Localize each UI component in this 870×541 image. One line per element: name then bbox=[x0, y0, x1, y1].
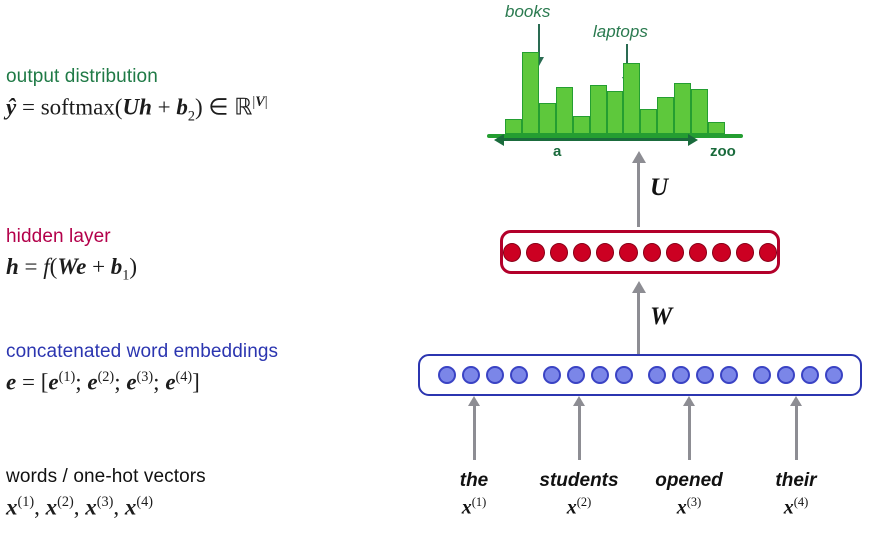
matrix-label-u: U bbox=[650, 174, 668, 202]
annotation-laptops: laptops bbox=[593, 22, 648, 42]
word-input-arrow bbox=[473, 405, 476, 460]
chart-bar bbox=[539, 103, 556, 134]
chart-bar bbox=[674, 83, 691, 134]
hidden-node bbox=[573, 243, 591, 262]
chart-bar bbox=[522, 52, 539, 134]
hidden-layer-label: hidden layer bbox=[6, 226, 137, 248]
hidden-node bbox=[550, 243, 568, 262]
embedding-node bbox=[486, 366, 504, 384]
word-symbol: x(1) bbox=[419, 495, 529, 520]
word-input-arrow bbox=[578, 405, 581, 460]
chart-bar bbox=[556, 87, 573, 134]
chart-bar bbox=[505, 119, 522, 134]
word-text: their bbox=[741, 470, 851, 492]
word-symbol: x(3) bbox=[634, 495, 744, 520]
word-input-column: studentsx(2) bbox=[524, 470, 634, 520]
vocabulary-axis-arrow bbox=[503, 138, 689, 141]
output-distribution-label: output distribution bbox=[6, 66, 268, 88]
hidden-node bbox=[596, 243, 614, 262]
embedding-node bbox=[543, 366, 561, 384]
embedding-node bbox=[438, 366, 456, 384]
word-input-column: theirx(4) bbox=[741, 470, 851, 520]
hidden-layer-nodes bbox=[500, 230, 780, 274]
embedding-group bbox=[753, 366, 843, 384]
output-distribution-formula: ŷ = softmax(Uh + b2) ∈ ℝ|V| bbox=[6, 94, 268, 125]
network-diagram: books laptops a zoo U W thex(1)studentsx… bbox=[410, 0, 870, 541]
embedding-layer-nodes bbox=[418, 354, 862, 396]
hidden-node bbox=[643, 243, 661, 262]
embedding-group bbox=[648, 366, 738, 384]
annotation-books: books bbox=[505, 2, 550, 22]
embedding-node bbox=[462, 366, 480, 384]
embedding-node bbox=[777, 366, 795, 384]
hidden-node bbox=[712, 243, 730, 262]
embedding-node bbox=[591, 366, 609, 384]
embedding-node bbox=[648, 366, 666, 384]
embedding-node bbox=[615, 366, 633, 384]
word-embeddings-formula: e = [e(1); e(2); e(3); e(4)] bbox=[6, 369, 278, 396]
word-text: students bbox=[524, 470, 634, 492]
embedding-node bbox=[801, 366, 819, 384]
hidden-node bbox=[759, 243, 777, 262]
connector-arrow-u bbox=[637, 162, 640, 227]
embedding-node bbox=[696, 366, 714, 384]
embedding-node bbox=[510, 366, 528, 384]
embedding-node bbox=[825, 366, 843, 384]
hidden-node bbox=[736, 243, 754, 262]
hidden-layer-block: hidden layer h = f(We + b1) bbox=[6, 226, 137, 285]
axis-label-start: a bbox=[553, 143, 561, 160]
chart-bar bbox=[657, 97, 674, 134]
hidden-node bbox=[689, 243, 707, 262]
word-symbol: x(4) bbox=[741, 495, 851, 520]
hidden-node bbox=[503, 243, 521, 262]
word-input-arrow bbox=[795, 405, 798, 460]
word-symbol: x(2) bbox=[524, 495, 634, 520]
hidden-node bbox=[619, 243, 637, 262]
embedding-node bbox=[720, 366, 738, 384]
chart-bar bbox=[708, 122, 725, 134]
embedding-group bbox=[438, 366, 528, 384]
annotations-panel: output distribution ŷ = softmax(Uh + b2)… bbox=[0, 0, 420, 541]
word-input-column: thex(1) bbox=[419, 470, 529, 520]
one-hot-vectors-formula: x(1), x(2), x(3), x(4) bbox=[6, 494, 206, 521]
word-text: opened bbox=[634, 470, 744, 492]
embedding-node bbox=[672, 366, 690, 384]
word-text: the bbox=[419, 470, 529, 492]
word-input-column: openedx(3) bbox=[634, 470, 744, 520]
chart-bar bbox=[590, 85, 607, 134]
hidden-node bbox=[526, 243, 544, 262]
word-input-arrow bbox=[688, 405, 691, 460]
one-hot-vectors-label: words / one-hot vectors bbox=[6, 466, 206, 488]
chart-bar bbox=[573, 116, 590, 134]
hidden-node bbox=[666, 243, 684, 262]
chart-bar bbox=[691, 89, 708, 134]
output-distribution-block: output distribution ŷ = softmax(Uh + b2)… bbox=[6, 66, 268, 125]
axis-label-end: zoo bbox=[710, 143, 736, 160]
chart-bar bbox=[640, 109, 657, 134]
embedding-node bbox=[753, 366, 771, 384]
connector-arrow-w bbox=[637, 292, 640, 354]
word-embeddings-block: concatenated word embeddings e = [e(1); … bbox=[6, 341, 278, 396]
matrix-label-w: W bbox=[650, 303, 672, 331]
chart-bar bbox=[623, 63, 640, 134]
chart-bars bbox=[505, 52, 725, 134]
one-hot-vectors-block: words / one-hot vectors x(1), x(2), x(3)… bbox=[6, 466, 206, 521]
embedding-group bbox=[543, 366, 633, 384]
chart-bar bbox=[607, 91, 624, 134]
output-distribution-chart bbox=[505, 52, 725, 134]
hidden-layer-formula: h = f(We + b1) bbox=[6, 254, 137, 285]
embedding-node bbox=[567, 366, 585, 384]
word-embeddings-label: concatenated word embeddings bbox=[6, 341, 278, 363]
